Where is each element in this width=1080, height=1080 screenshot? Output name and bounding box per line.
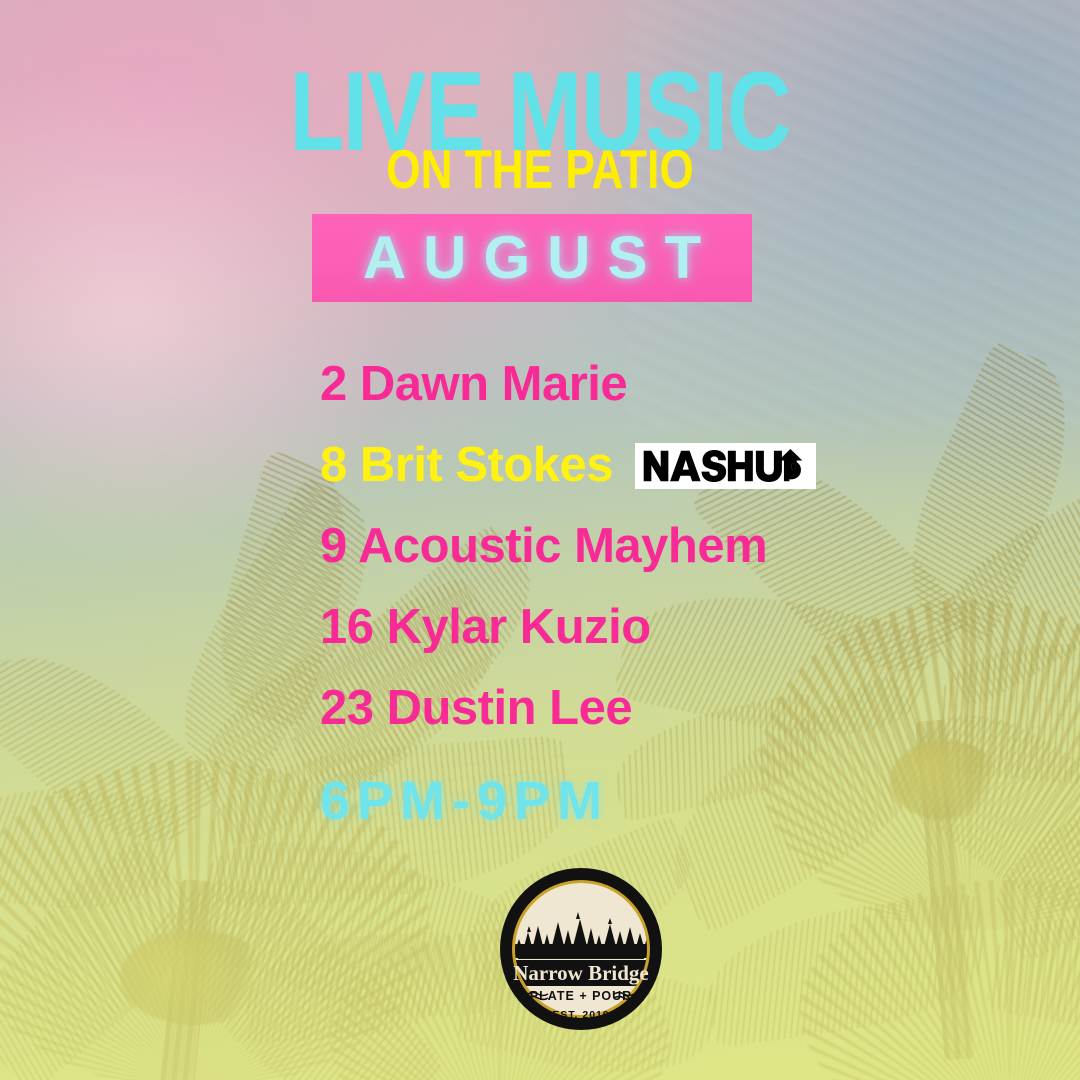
logo-tagline: PLATE + POUR: [530, 989, 632, 1003]
list-item: 23 Dustin Lee: [320, 668, 960, 749]
lineup-list: 2 Dawn Marie 8 Brit Stokes: [320, 344, 960, 749]
list-item: 16 Kylar Kuzio: [320, 587, 960, 668]
live-music-poster: LIVE MUSIC ON THE PATIO AUGUST 2 Dawn Ma…: [0, 0, 1080, 1080]
month-label: AUGUST: [346, 228, 718, 288]
page-subtitle: ON THE PATIO: [22, 142, 1059, 196]
list-item: 2 Dawn Marie: [320, 344, 960, 425]
month-banner: AUGUST: [312, 214, 752, 302]
logo-badge-icon: Narrow Bridge PLATE + POUR EST. 2019: [498, 866, 664, 1032]
event-time: 6PM-9PM: [320, 774, 609, 828]
lineup-entry-text: 9 Acoustic Mayhem: [320, 522, 767, 571]
lineup-entry-text: 16 Kylar Kuzio: [320, 603, 651, 652]
list-item: 9 Acoustic Mayhem: [320, 506, 960, 587]
logo-brand-name: Narrow Bridge: [513, 961, 649, 985]
nashup-logo-badge: [635, 443, 816, 489]
lineup-entry-text: 23 Dustin Lee: [320, 684, 632, 733]
lineup-entry-text: 2 Dawn Marie: [320, 360, 627, 409]
lineup-entry-text: 8 Brit Stokes: [320, 441, 613, 490]
logo-established: EST. 2019: [552, 1009, 609, 1021]
nashup-wordmark-icon: [642, 449, 809, 483]
narrow-bridge-logo: Narrow Bridge PLATE + POUR EST. 2019: [498, 866, 664, 1032]
list-item: 8 Brit Stokes: [320, 425, 960, 506]
